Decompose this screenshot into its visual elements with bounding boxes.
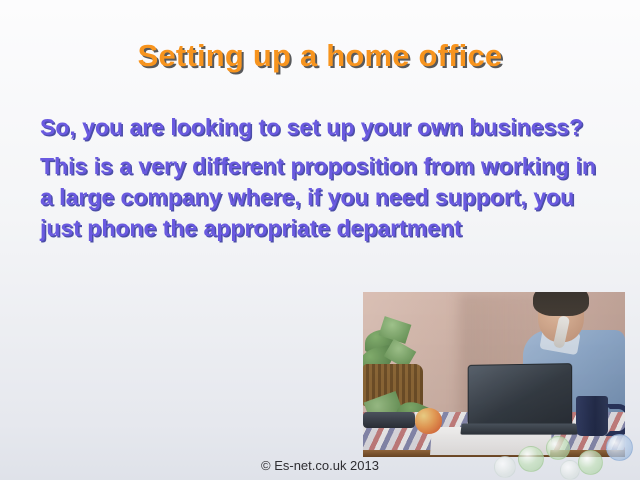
paragraph-1: So, you are looking to set up your own b… <box>40 112 600 143</box>
page-title: Setting up a home office <box>0 38 640 74</box>
body-text-block: So, you are looking to set up your own b… <box>40 112 600 252</box>
photo-color-tone <box>363 292 625 457</box>
paragraph-2: This is a very different proposition fro… <box>40 151 600 244</box>
slide-canvas: Setting up a home office So, you are loo… <box>0 0 640 480</box>
copyright-footer: © Es-net.co.uk 2013 <box>0 458 640 473</box>
home-office-photo <box>363 292 625 457</box>
